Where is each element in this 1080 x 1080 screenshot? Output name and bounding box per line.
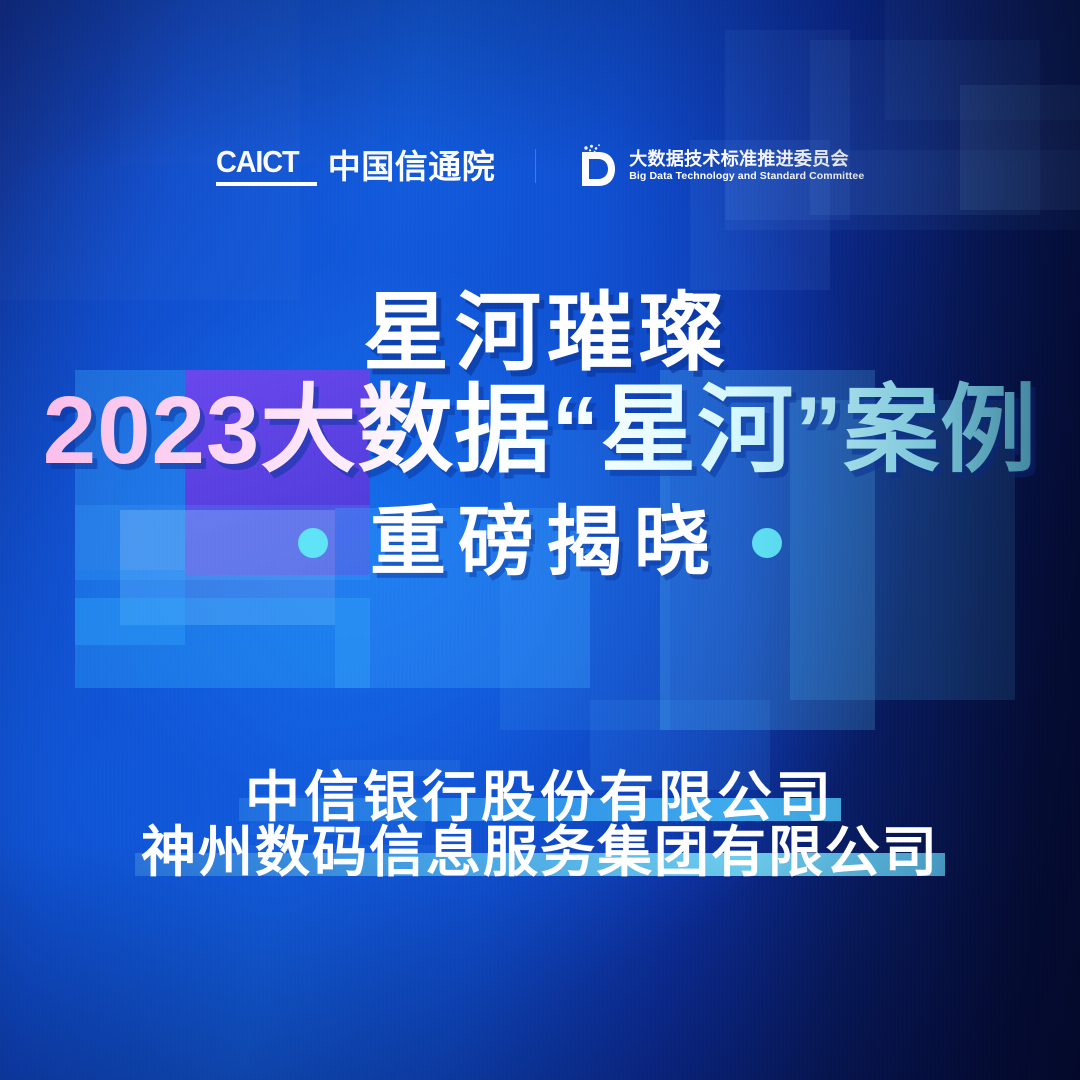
headline-line-3-row: 重磅揭晓: [0, 503, 1080, 583]
logo-divider: [535, 149, 536, 183]
logo-row: CAICT 中国信通院 大数据技术标准推进委员会: [0, 140, 1080, 192]
caict-wordmark-block: CAICT: [216, 146, 317, 186]
big-data-d-logo-icon: [576, 143, 618, 189]
headline-line-3: 重磅揭晓: [358, 503, 722, 583]
big-data-committee-text: 大数据技术标准推进委员会 Big Data Technology and Sta…: [629, 150, 864, 182]
bg-rect-mid-wide-1: [75, 598, 370, 688]
headline-line-1: 星河璀璨: [0, 290, 1080, 378]
caict-logo: CAICT 中国信通院: [216, 146, 496, 186]
caict-wordmark: CAICT: [216, 146, 310, 177]
winner-name: 中信银行股份有限公司: [245, 770, 835, 825]
caict-chinese-name: 中国信通院: [328, 150, 496, 183]
winner-list: 中信银行股份有限公司 神州数码信息服务集团有限公司: [0, 770, 1080, 880]
headline-line-2: 2023大数据“星河”案例: [0, 380, 1080, 482]
winner-item: 神州数码信息服务集团有限公司: [141, 825, 939, 880]
bullet-dot-right-icon: [752, 528, 782, 558]
caict-underline-rule: [216, 182, 317, 186]
big-data-committee-logo: 大数据技术标准推进委员会 Big Data Technology and Sta…: [576, 143, 864, 189]
headline-block: 星河璀璨 2023大数据“星河”案例 重磅揭晓: [0, 290, 1080, 583]
winner-name: 神州数码信息服务集团有限公司: [141, 825, 939, 880]
committee-chinese-name: 大数据技术标准推进委员会: [629, 150, 864, 169]
winner-item: 中信银行股份有限公司: [245, 770, 835, 825]
committee-english-name: Big Data Technology and Standard Committ…: [629, 171, 864, 182]
bullet-dot-left-icon: [298, 528, 328, 558]
poster-canvas: CAICT 中国信通院 大数据技术标准推进委员会: [0, 0, 1080, 1080]
